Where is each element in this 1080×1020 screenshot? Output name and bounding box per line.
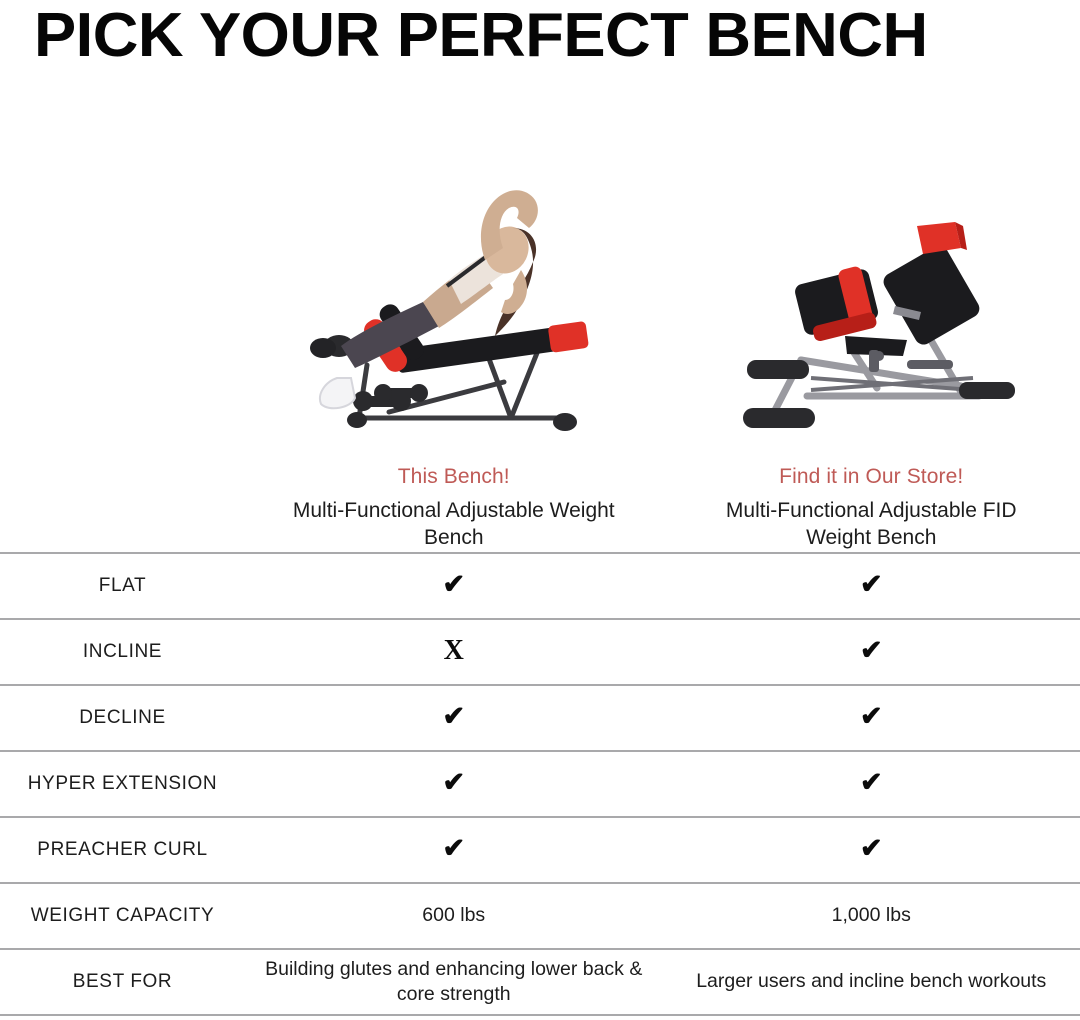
feature-value-col1: ✔ [245, 571, 663, 601]
feature-value-col2: ✔ [663, 571, 1080, 601]
feature-value-col1: ✔ [245, 769, 663, 799]
feature-value-col2: Larger users and incline bench workouts [663, 969, 1080, 994]
product-image-2 [671, 120, 1073, 450]
product-name-1: Multi-Functional Adjustable Weight Bench [274, 497, 634, 552]
table-row: HYPER EXTENSION ✔ ✔ [0, 752, 1080, 818]
bench-with-model-illustration [289, 150, 619, 450]
feature-label: INCLINE [0, 641, 245, 663]
feature-value-col1: X [245, 637, 663, 667]
check-icon: ✔ [860, 769, 883, 796]
feature-value-col2: ✔ [663, 835, 1080, 865]
page-title-bar: PICK YOUR PERFECT BENCH [34, 0, 1048, 72]
table-row: INCLINE X ✔ [0, 620, 1080, 686]
feature-value-col2: ✔ [663, 703, 1080, 733]
check-icon: ✔ [442, 571, 465, 598]
cross-icon: X [444, 637, 464, 665]
product-tag-2: Find it in Our Store! [779, 464, 963, 490]
table-row: BEST FOR Building glutes and enhancing l… [0, 950, 1080, 1016]
comparison-table: FLAT ✔ ✔ INCLINE X ✔ DECLINE ✔ ✔ HYPER E… [0, 552, 1080, 1016]
comparison-infographic: PICK YOUR PERFECT BENCH [0, 0, 1080, 1020]
product-column-1: This Bench! Multi-Functional Adjustable … [245, 80, 663, 552]
feature-label: WEIGHT CAPACITY [0, 905, 245, 927]
feature-value-col2: ✔ [663, 769, 1080, 799]
feature-value-col2: 1,000 lbs [663, 903, 1080, 928]
table-row: FLAT ✔ ✔ [0, 554, 1080, 620]
feature-value-col1: 600 lbs [245, 903, 663, 928]
product-name-2: Multi-Functional Adjustable FID Weight B… [691, 497, 1051, 552]
feature-value-col1: Building glutes and enhancing lower back… [245, 957, 663, 1008]
feature-label: PREACHER CURL [0, 839, 245, 861]
feature-column-spacer [0, 80, 245, 552]
check-icon: ✔ [860, 571, 883, 598]
fid-bench-illustration [711, 200, 1031, 450]
table-row: DECLINE ✔ ✔ [0, 686, 1080, 752]
table-row: WEIGHT CAPACITY 600 lbs 1,000 lbs [0, 884, 1080, 950]
page-title: PICK YOUR PERFECT BENCH [34, 5, 928, 67]
product-column-2: Find it in Our Store! Multi-Functional A… [663, 80, 1080, 552]
feature-value-col1: ✔ [245, 703, 663, 733]
table-row: PREACHER CURL ✔ ✔ [0, 818, 1080, 884]
product-image-1 [253, 120, 655, 450]
check-icon: ✔ [860, 637, 883, 664]
check-icon: ✔ [860, 835, 883, 862]
check-icon: ✔ [442, 835, 465, 862]
product-tag-1: This Bench! [398, 464, 510, 490]
check-icon: ✔ [442, 703, 465, 730]
product-header-row: This Bench! Multi-Functional Adjustable … [0, 80, 1080, 552]
check-icon: ✔ [860, 703, 883, 730]
feature-label: BEST FOR [0, 971, 245, 993]
feature-value-col1: ✔ [245, 835, 663, 865]
feature-label: FLAT [0, 575, 245, 597]
feature-label: DECLINE [0, 707, 245, 729]
feature-label: HYPER EXTENSION [0, 773, 245, 795]
feature-value-col2: ✔ [663, 637, 1080, 667]
check-icon: ✔ [442, 769, 465, 796]
